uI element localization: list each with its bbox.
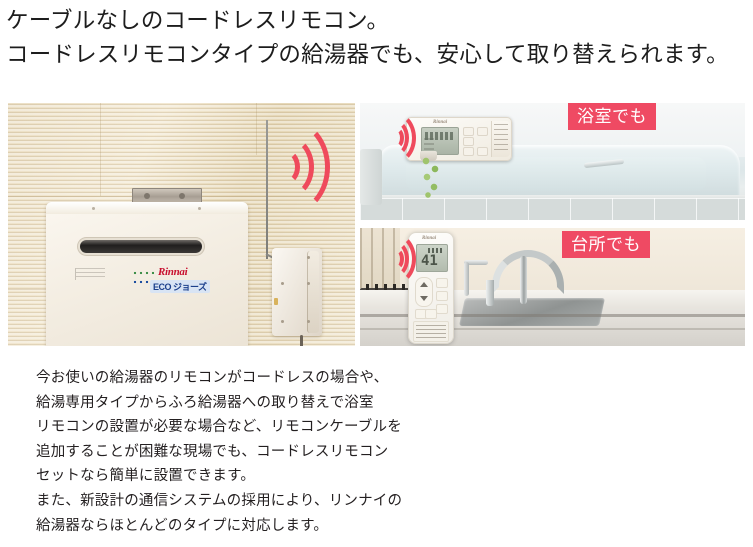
- eco-jaws-badge: ECO ジョーズ: [150, 280, 210, 293]
- remote-button: [425, 309, 437, 319]
- body-line-3: リモコンの設置が必要な場合など、リモコンケーブルを: [36, 415, 736, 440]
- adapter-cable: [300, 335, 303, 346]
- remote-button: [436, 278, 448, 288]
- adapter-screw: [281, 282, 284, 285]
- remote-lcd-screen: 41: [416, 244, 448, 272]
- radio-wave-arc-3: [370, 111, 416, 165]
- bathroom-tiles: [360, 198, 745, 220]
- remote-label-panel: [491, 121, 510, 157]
- remote-button: [477, 127, 488, 136]
- remote-button: [436, 291, 448, 301]
- remote-button: [463, 137, 474, 146]
- remote-button: [463, 147, 474, 156]
- body-line-1: 今お使いの給湯器のリモコンがコードレスの場合や、: [36, 366, 736, 391]
- adapter-screw: [307, 256, 310, 259]
- wireless-adapter-unit: [272, 248, 322, 336]
- page-headline: ケーブルなしのコードレスリモコン。 コードレスリモコンタイプの給湯器でも、安心し…: [6, 4, 751, 72]
- remote-instruction-label: [413, 321, 449, 342]
- body-line-5: セットなら簡単に設置できます。: [36, 464, 736, 489]
- radio-wave-arc-3: [250, 119, 330, 215]
- rinnai-logo: Rinnai: [158, 266, 187, 278]
- radio-wave-icon: [368, 230, 414, 288]
- body-line-2: 給湯専用タイプからふろ給湯器への取り替えで浴室: [36, 391, 736, 416]
- photo-kitchen: Rinnai 41: [360, 228, 745, 346]
- photo-gallery: Rinnai ECO ジョーズ: [8, 103, 745, 346]
- heater-vent: [80, 240, 202, 253]
- photo-bathroom: Rinnai: [360, 103, 745, 220]
- body-line-6: また、新設計の通信システムの採用により、リンナイの: [36, 489, 736, 514]
- kitchen-remote-controller: Rinnai 41: [408, 232, 454, 344]
- radio-wave-icon: [368, 109, 414, 169]
- heater-screw: [198, 207, 201, 210]
- badge-kitchen: 台所でも: [562, 231, 650, 258]
- wall-seam: [100, 103, 101, 196]
- faucet-spout: [486, 280, 494, 306]
- photo-water-heater: Rinnai ECO ジョーズ: [8, 103, 355, 346]
- remote-temperature-value: 41: [421, 254, 438, 268]
- remote-brand-logo: Rinnai: [433, 120, 447, 125]
- remote-button: [436, 304, 448, 314]
- adapter-screw: [307, 320, 310, 323]
- kitchen-sink: [459, 298, 605, 326]
- body-line-7: 給湯器ならほとんどのタイプに対応します。: [36, 514, 736, 539]
- heater-top-panel: [46, 202, 248, 214]
- radio-wave-icon: [270, 109, 355, 219]
- body-copy: 今お使いの給湯器のリモコンがコードレスの場合や、 給湯専用タイプからふろ給湯器へ…: [36, 366, 736, 538]
- adapter-screw: [307, 282, 310, 285]
- bathtub-water: [406, 157, 706, 191]
- remote-button: [463, 127, 474, 136]
- faucet-secondary-body: [464, 262, 469, 296]
- heater-screw: [92, 207, 95, 210]
- headline-line-1: ケーブルなしのコードレスリモコン。: [6, 4, 751, 38]
- headline-line-2: コードレスリモコンタイプの給湯器でも、安心して取り替えられます。: [6, 38, 751, 72]
- body-line-4: 追加することが困難な現場でも、コードレスリモコン: [36, 440, 736, 465]
- heater-spec-label: [75, 268, 105, 280]
- hanging-plant: [422, 157, 440, 201]
- faucet-body: [520, 256, 527, 304]
- water-heater-unit: Rinnai ECO ジョーズ: [46, 202, 248, 346]
- remote-temperature-stepper: [415, 277, 433, 307]
- remote-brand-logo: Rinnai: [422, 236, 436, 241]
- adapter-screw: [281, 320, 284, 323]
- badge-bathroom: 浴室でも: [568, 103, 656, 130]
- adapter-led: [274, 298, 278, 305]
- radio-wave-arc-3: [370, 232, 416, 286]
- remote-button: [477, 147, 488, 156]
